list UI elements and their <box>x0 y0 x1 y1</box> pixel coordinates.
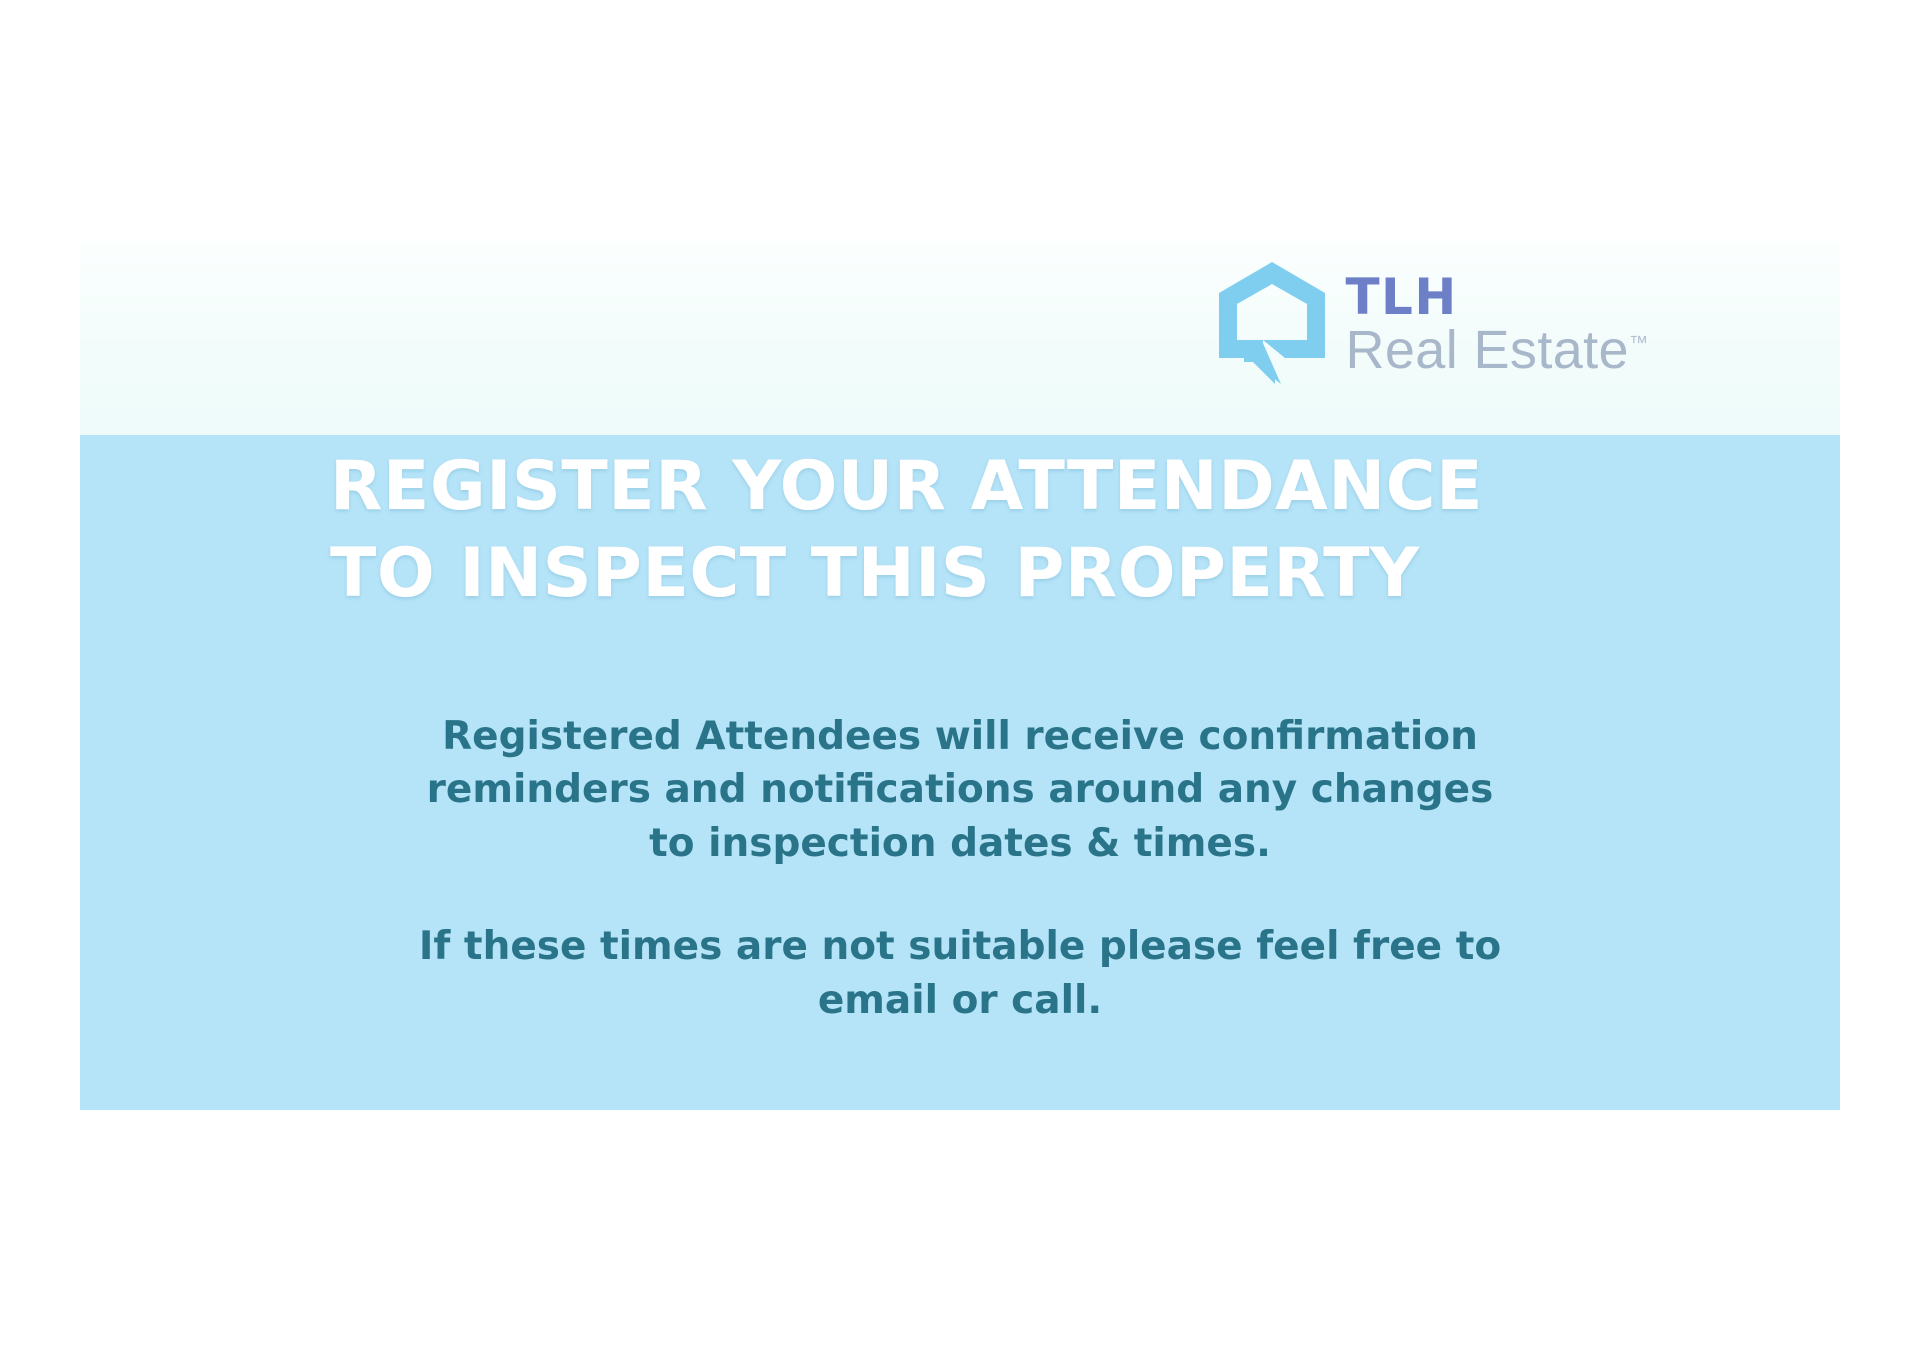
brand-name-secondary: Real Estate™ <box>1345 321 1648 379</box>
flyer-canvas: TLH Real Estate™ REGISTER YOUR ATTENDANC… <box>0 0 1920 1356</box>
page-title: REGISTER YOUR ATTENDANCE TO INSPECT THIS… <box>330 443 1630 617</box>
body-paragraph-1-line-3: to inspection dates & times. <box>290 817 1630 870</box>
tlh-house-speech-bubble-icon <box>1219 262 1325 384</box>
brand-name-primary: TLH <box>1345 273 1648 321</box>
brand-logo[interactable]: TLH Real Estate™ <box>1219 262 1648 384</box>
body-paragraph-2: If these times are not suitable please f… <box>290 920 1630 1027</box>
body-copy: Registered Attendees will receive confir… <box>290 710 1630 1027</box>
card-header-strip: TLH Real Estate™ <box>80 240 1840 435</box>
body-paragraph-2-line-1: If these times are not suitable please f… <box>290 920 1630 973</box>
body-paragraph-1-line-2: reminders and notifications around any c… <box>290 763 1630 816</box>
page-title-line-1: REGISTER YOUR ATTENDANCE <box>330 443 1630 530</box>
brand-wordmark: TLH Real Estate™ <box>1345 267 1648 379</box>
brand-name-secondary-text: Real Estate <box>1345 320 1629 380</box>
notice-card: TLH Real Estate™ REGISTER YOUR ATTENDANC… <box>80 240 1840 1110</box>
body-paragraph-2-line-2: email or call. <box>290 974 1630 1027</box>
body-paragraph-1: Registered Attendees will receive confir… <box>290 710 1630 870</box>
trademark-symbol: ™ <box>1629 333 1648 354</box>
page-title-line-2: TO INSPECT THIS PROPERTY <box>330 530 1630 617</box>
body-paragraph-1-line-1: Registered Attendees will receive confir… <box>290 710 1630 763</box>
card-body-band: REGISTER YOUR ATTENDANCE TO INSPECT THIS… <box>80 435 1840 1110</box>
